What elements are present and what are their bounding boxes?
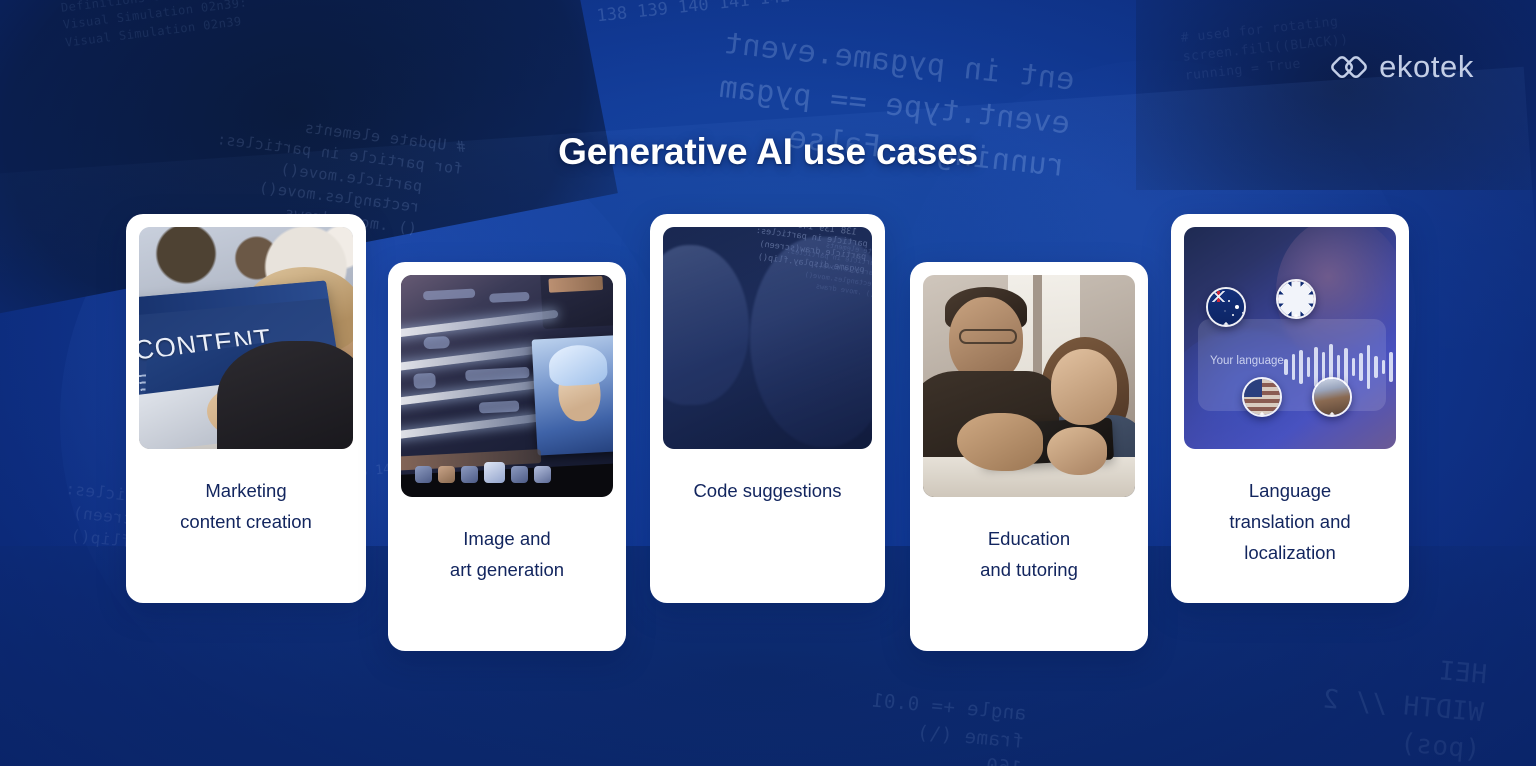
card-image-image-and-art-generation (401, 275, 613, 497)
app-dock-illustration (415, 462, 551, 483)
card-label-education-and-tutoring: Education and tutoring (974, 497, 1084, 585)
generated-portrait-thumbnail (532, 335, 613, 455)
use-case-card-education-and-tutoring[interactable]: Education and tutoring (910, 262, 1148, 651)
card-label-language-translation-and-localization: Language translation and localization (1223, 449, 1356, 568)
use-case-card-code-suggestions[interactable]: for particle in particles: particle.draw… (650, 214, 885, 603)
brand-logo[interactable]: ekotek (1330, 48, 1474, 86)
card-image-language-translation-and-localization: Your language (1184, 227, 1396, 449)
card-image-marketing-content-creation: CONTENT (139, 227, 353, 449)
use-case-card-image-and-art-generation[interactable]: Image and art generation (388, 262, 626, 651)
flag-pin-united-kingdom-icon (1276, 279, 1316, 319)
use-case-card-language-translation-and-localization[interactable]: Your language Language translation and l… (1171, 214, 1409, 603)
card-label-marketing-content-creation: Marketing content creation (174, 449, 318, 537)
use-case-card-marketing-content-creation[interactable]: CONTENT Marketing content creation (126, 214, 366, 603)
card-label-code-suggestions: Code suggestions (687, 449, 847, 506)
slide-canvas: ent in pygame.event event.type == pygam … (0, 0, 1536, 766)
your-language-label: Your language (1210, 355, 1284, 367)
brand-name: ekotek (1379, 49, 1474, 85)
card-image-code-suggestions: for particle in particles: particle.draw… (663, 227, 872, 449)
page-title: Generative AI use cases (0, 131, 1536, 173)
glasses-icon (959, 329, 1017, 344)
card-image-education-and-tutoring (923, 275, 1135, 497)
card-label-image-and-art-generation: Image and art generation (444, 497, 570, 585)
flag-pin-other-icon (1312, 377, 1352, 417)
flag-pin-australia-icon (1206, 287, 1246, 327)
flag-pin-united-states-icon (1242, 377, 1282, 417)
interlocking-diamonds-icon (1330, 48, 1368, 86)
